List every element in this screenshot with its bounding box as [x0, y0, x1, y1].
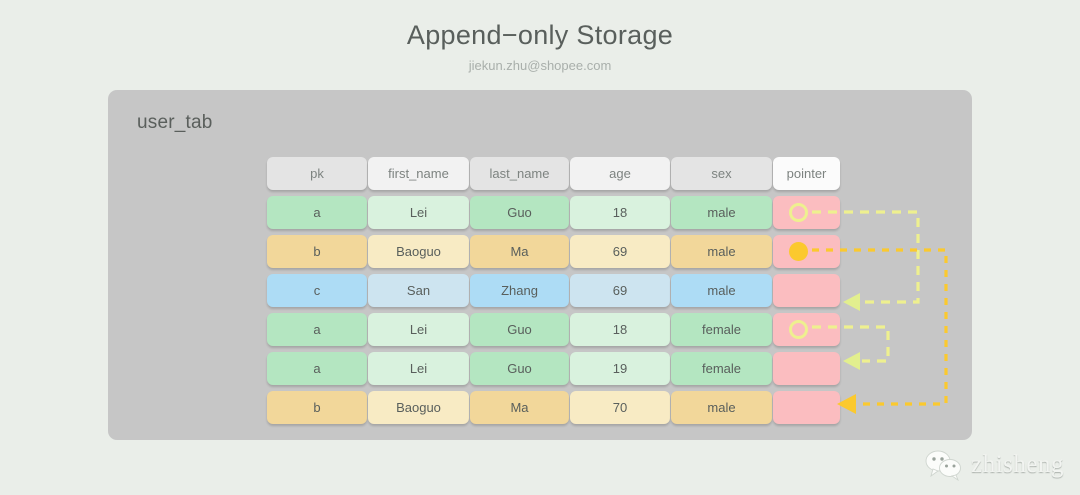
user-table: pk first_name last_name age sex pointer … [267, 157, 840, 430]
cell-first_name: Baoguo [368, 235, 469, 268]
cell-pk: c [267, 274, 367, 307]
cell-first_name: Lei [368, 352, 469, 385]
column-header-pk: pk [267, 157, 367, 190]
cell-pk: b [267, 391, 367, 424]
cell-pointer [773, 196, 840, 229]
table-row: aLeiGuo18female [267, 313, 840, 346]
cell-last_name: Guo [470, 352, 569, 385]
heading-block: Append−only Storage jiekun.zhu@shopee.co… [0, 18, 1080, 77]
cell-pk: a [267, 313, 367, 346]
cell-pk: b [267, 235, 367, 268]
cell-first_name: Baoguo [368, 391, 469, 424]
cell-pointer [773, 352, 840, 385]
table-row: bBaoguoMa69male [267, 235, 840, 268]
cell-age: 18 [570, 196, 670, 229]
page-subtitle: jiekun.zhu@shopee.com [0, 55, 1080, 77]
cell-pk: a [267, 196, 367, 229]
watermark: zhisheng [924, 449, 1064, 481]
cell-age: 18 [570, 313, 670, 346]
cell-sex: male [671, 235, 772, 268]
cell-last_name: Guo [470, 313, 569, 346]
cell-sex: male [671, 391, 772, 424]
cell-sex: female [671, 313, 772, 346]
cell-sex: female [671, 352, 772, 385]
cell-pointer [773, 391, 840, 424]
cell-age: 19 [570, 352, 670, 385]
cell-last_name: Ma [470, 391, 569, 424]
page-title: Append−only Storage [0, 18, 1080, 52]
table-header-row: pk first_name last_name age sex pointer [267, 157, 840, 190]
table-row: aLeiGuo18male [267, 196, 840, 229]
pointer-ring-icon [789, 203, 808, 222]
watermark-label: zhisheng [971, 451, 1064, 479]
cell-age: 69 [570, 235, 670, 268]
cell-pk: a [267, 352, 367, 385]
cell-last_name: Zhang [470, 274, 569, 307]
cell-sex: male [671, 274, 772, 307]
pointer-ring-icon [789, 320, 808, 339]
pointer-dot-icon [789, 242, 808, 261]
column-header-sex: sex [671, 157, 772, 190]
cell-age: 69 [570, 274, 670, 307]
cell-pointer [773, 274, 840, 307]
cell-last_name: Ma [470, 235, 569, 268]
cell-first_name: Lei [368, 196, 469, 229]
table-row: bBaoguoMa70male [267, 391, 840, 424]
column-header-last-name: last_name [470, 157, 569, 190]
cell-last_name: Guo [470, 196, 569, 229]
wechat-icon [924, 449, 964, 481]
table-row: aLeiGuo19female [267, 352, 840, 385]
cell-pointer [773, 313, 840, 346]
table-body: aLeiGuo18malebBaoguoMa69malecSanZhang69m… [267, 196, 840, 424]
cell-first_name: Lei [368, 313, 469, 346]
cell-age: 70 [570, 391, 670, 424]
cell-sex: male [671, 196, 772, 229]
column-header-age: age [570, 157, 670, 190]
cell-first_name: San [368, 274, 469, 307]
cell-pointer [773, 235, 840, 268]
table-name-label: user_tab [137, 112, 213, 134]
column-header-pointer: pointer [773, 157, 840, 190]
table-row: cSanZhang69male [267, 274, 840, 307]
column-header-first-name: first_name [368, 157, 469, 190]
